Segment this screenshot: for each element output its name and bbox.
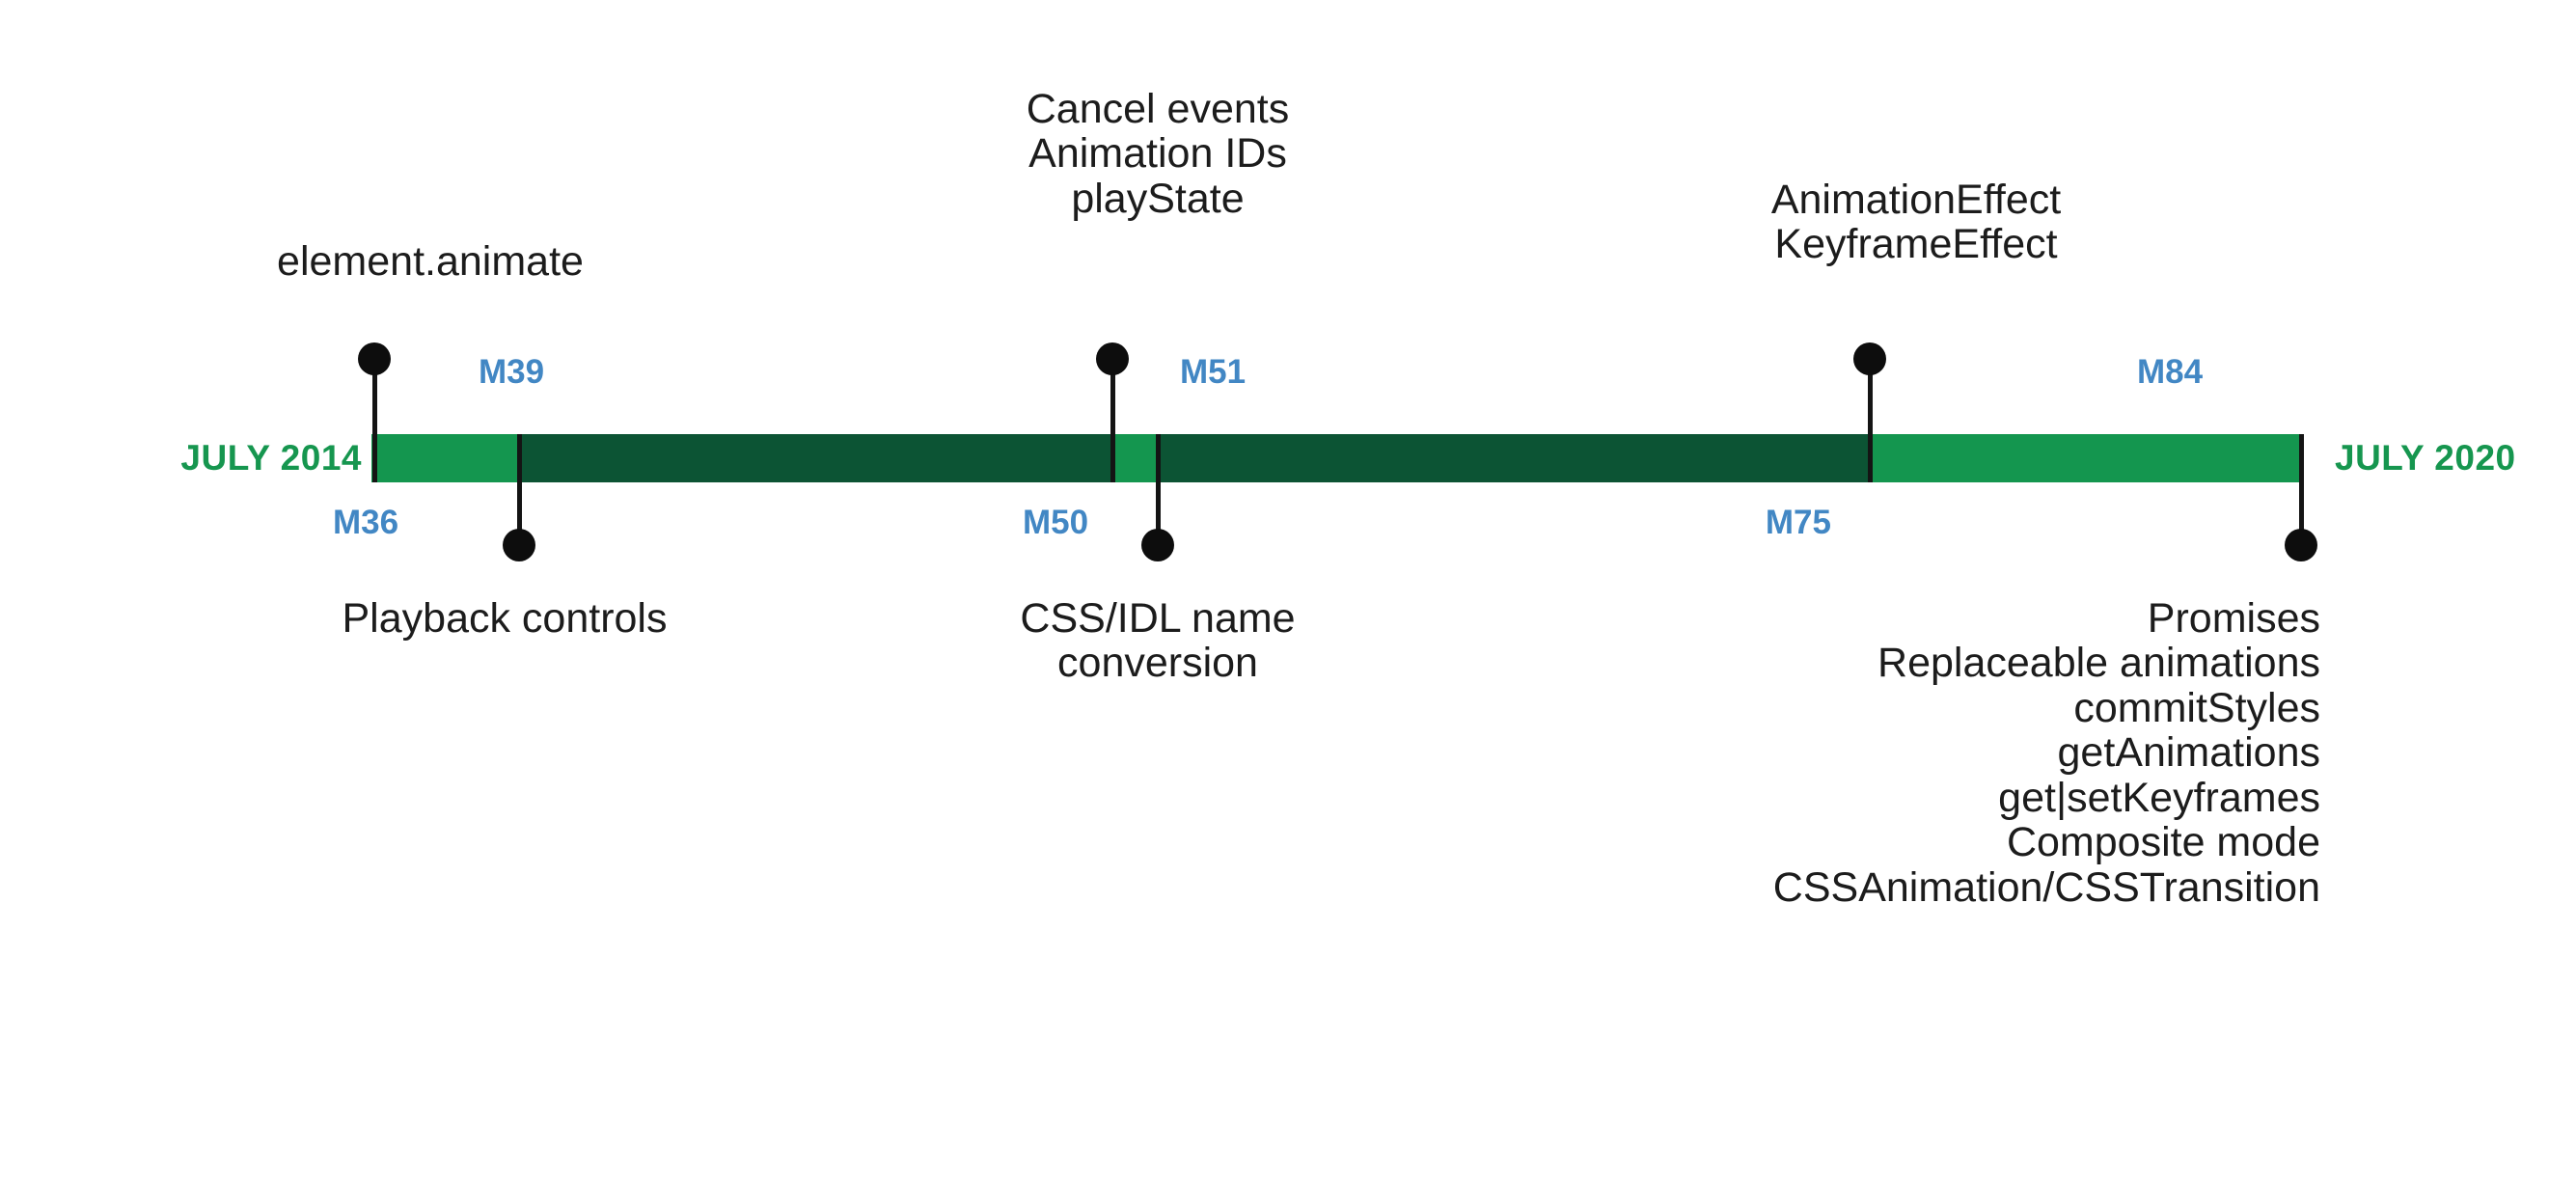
milestone-label-m51: M51	[1180, 355, 1246, 389]
timeline-diagram: JULY 2014 JULY 2020 M36 element.animate …	[0, 0, 2576, 1204]
timeline-start-label: JULY 2014	[180, 434, 362, 482]
feature-item: get|setKeyframes	[1773, 776, 2320, 820]
feature-item: playState	[1027, 177, 1290, 221]
feature-list-m51: Cancel events Animation IDs playState	[1027, 87, 1290, 221]
m84-dot	[2285, 529, 2317, 561]
feature-item: AnimationEffect	[1771, 178, 2061, 222]
feature-item: Playback controls	[343, 596, 668, 641]
feature-item: Composite mode	[1773, 820, 2320, 864]
feature-item: KeyframeEffect	[1771, 222, 2061, 266]
timeline-end-label: JULY 2020	[2335, 434, 2516, 482]
feature-list-m39: Playback controls	[343, 596, 668, 641]
bar-segment-m75-2020	[1870, 434, 2301, 482]
feature-list-m50: CSS/IDL name conversion	[1020, 596, 1295, 686]
m75-dot	[1853, 342, 1886, 375]
milestone-label-m84: M84	[2137, 355, 2203, 389]
feature-item: commitStyles	[1773, 686, 2320, 730]
feature-item: Cancel events	[1027, 87, 1290, 131]
m36-stem	[372, 359, 377, 482]
timeline-bar	[371, 434, 2301, 482]
feature-list-m75: AnimationEffect KeyframeEffect	[1771, 178, 2061, 267]
bar-segment-m39-m50	[519, 434, 1112, 482]
milestone-label-m75: M75	[1766, 506, 1831, 539]
m36-dot	[358, 342, 391, 375]
feature-list-m36: element.animate	[277, 239, 584, 284]
bar-segment-2014-m39	[371, 434, 519, 482]
feature-item: Promises	[1773, 596, 2320, 641]
feature-item: Replaceable animations	[1773, 641, 2320, 685]
bar-segment-m50-m51	[1112, 434, 1158, 482]
milestone-label-m36: M36	[333, 506, 398, 539]
m75-stem	[1868, 359, 1873, 482]
feature-list-m84: Promises Replaceable animations commitSt…	[1773, 596, 2320, 910]
bar-segment-m51-m75	[1158, 434, 1870, 482]
m51-stem	[1110, 359, 1115, 482]
m50-dot	[1141, 529, 1174, 561]
milestone-label-m50: M50	[1023, 506, 1088, 539]
feature-item: getAnimations	[1773, 730, 2320, 775]
feature-item: conversion	[1020, 641, 1295, 685]
feature-item: element.animate	[277, 239, 584, 284]
feature-item: CSSAnimation/CSSTransition	[1773, 865, 2320, 910]
feature-item: Animation IDs	[1027, 131, 1290, 176]
feature-item: CSS/IDL name	[1020, 596, 1295, 641]
m51-dot	[1096, 342, 1129, 375]
m39-dot	[503, 529, 535, 561]
milestone-label-m39: M39	[479, 355, 544, 389]
